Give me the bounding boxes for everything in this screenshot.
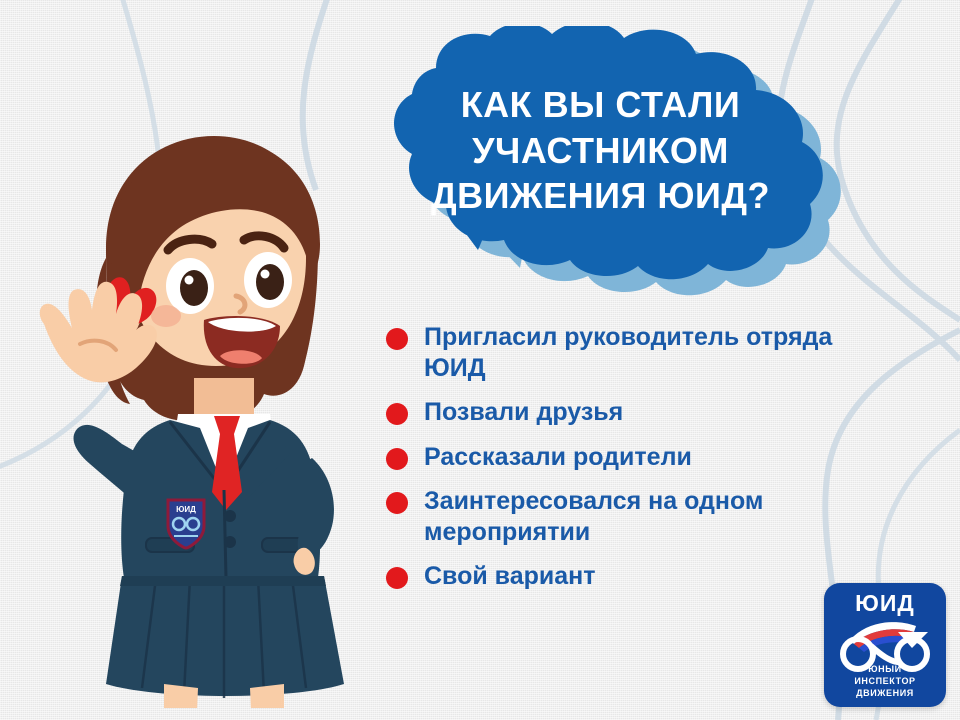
leg-right [250, 684, 284, 708]
yuid-logo-subtitle-line-1: ЮНЫЙ [824, 664, 946, 676]
skirt [106, 576, 344, 698]
svg-text:ЮИД: ЮИД [176, 505, 196, 514]
bullet-icon [386, 403, 408, 425]
bullet-icon [386, 328, 408, 350]
title-line-2: УЧАСТНИКОМ [373, 128, 828, 174]
title-line-3: ДВИЖЕНИЯ ЮИД? [373, 173, 828, 219]
yuid-logo-subtitle-line-3: ДВИЖЕНИЯ [824, 688, 946, 700]
eye-right [244, 252, 292, 308]
poster-canvas: КАК ВЫ СТАЛИ УЧАСТНИКОМ ДВИЖЕНИЯ ЮИД? Пр… [0, 0, 960, 720]
answer-list: Пригласил руководитель отряда ЮИД Позвал… [386, 322, 906, 606]
yuid-logo-subtitle: ЮНЫЙ ИНСПЕКТОР ДВИЖЕНИЯ [824, 664, 946, 700]
yuid-logo-title: ЮИД [824, 590, 946, 617]
answer-option-3[interactable]: Рассказали родители [386, 442, 906, 473]
speech-bubble: КАК ВЫ СТАЛИ УЧАСТНИКОМ ДВИЖЕНИЯ ЮИД? [318, 26, 878, 306]
blazer-button-top [224, 510, 236, 522]
bullet-icon [386, 567, 408, 589]
answer-option-3-label: Рассказали родители [424, 442, 692, 473]
cheek-blush-left [151, 305, 181, 327]
blazer-button-bottom [224, 536, 236, 548]
eye-left [166, 258, 214, 314]
speech-bubble-title: КАК ВЫ СТАЛИ УЧАСТНИКОМ ДВИЖЕНИЯ ЮИД? [373, 82, 828, 219]
bullet-icon [386, 492, 408, 514]
bullet-icon [386, 448, 408, 470]
yuid-chest-badge: ЮИД [168, 500, 204, 548]
yuid-logo-subtitle-line-2: ИНСПЕКТОР [824, 676, 946, 688]
leg-left [164, 684, 198, 708]
answer-option-4-label: Заинтересовался на одном мероприятии [424, 486, 854, 547]
title-line-1: КАК ВЫ СТАЛИ [373, 82, 828, 128]
answer-option-1[interactable]: Пригласил руководитель отряда ЮИД [386, 322, 906, 383]
answer-option-5-label: Свой вариант [424, 561, 596, 592]
answer-option-2-label: Позвали друзья [424, 397, 623, 428]
girl-character-illustration: ЮИД [18, 128, 348, 708]
yuid-logo[interactable]: ЮИД ЮНЫЙ ИНСПЕКТОР ДВИЖЕНИЯ [824, 583, 946, 707]
answer-option-2[interactable]: Позвали друзья [386, 397, 906, 428]
answer-option-1-label: Пригласил руководитель отряда ЮИД [424, 322, 854, 383]
answer-option-4[interactable]: Заинтересовался на одном мероприятии [386, 486, 906, 547]
